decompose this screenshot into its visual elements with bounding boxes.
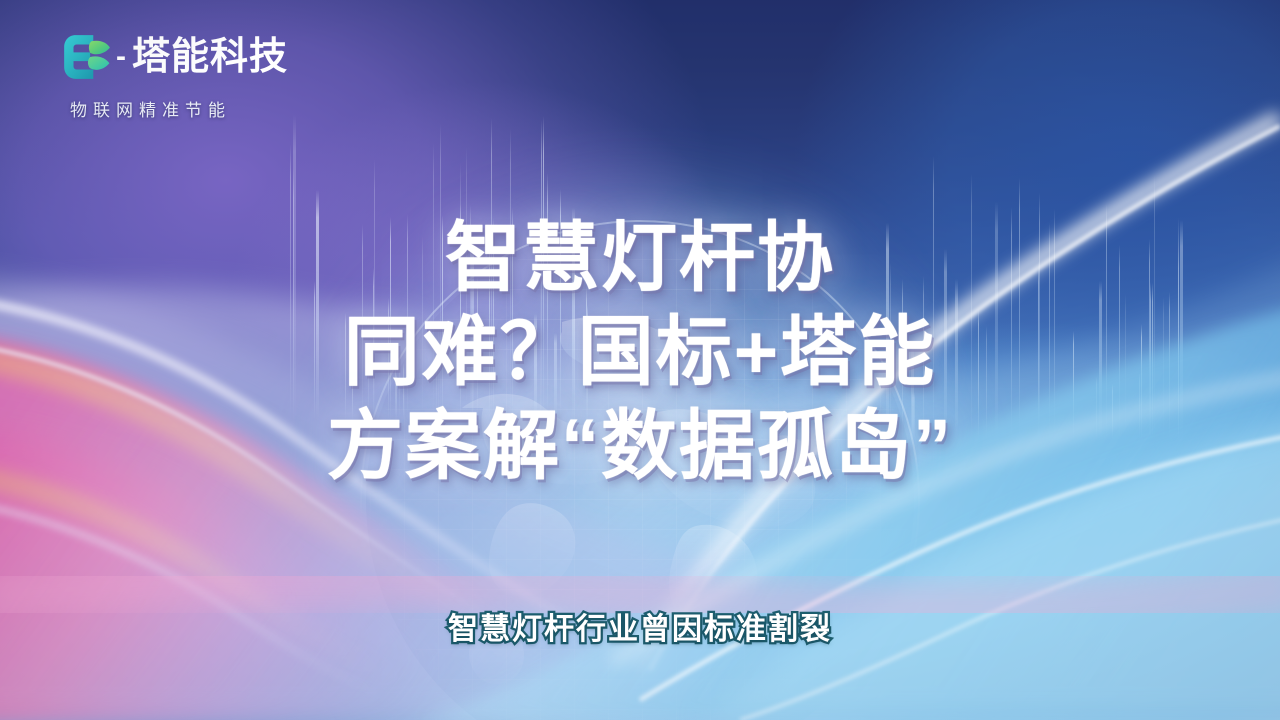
brand-name: 塔能科技 <box>132 38 288 76</box>
globe-continents-icon <box>366 226 914 720</box>
background-blue-glow <box>660 0 1280 500</box>
globe-graphic <box>366 226 914 720</box>
headline-line-3: 方案解“数据孤岛” <box>0 400 1280 494</box>
brand-logo-row: - 塔能科技 <box>60 28 320 86</box>
brand-logo-block[interactable]: - 塔能科技 物联网精准节能 <box>60 28 320 121</box>
headline-line-2: 同难？国标+塔能 <box>0 306 1280 400</box>
tower-energy-leaf-logo-icon <box>60 31 112 83</box>
light-streaks-right <box>880 150 1180 440</box>
headline-line-1: 智慧灯杆协 <box>0 212 1280 306</box>
globe-rim-highlight <box>360 220 920 720</box>
subtitle-text: 智慧灯杆行业曾因标准割裂 <box>448 613 832 646</box>
light-streaks-left <box>290 120 590 420</box>
headline-block: 智慧灯杆协 同难？国标+塔能 方案解“数据孤岛” <box>0 212 1280 494</box>
background-purple-glow-inner <box>180 60 800 540</box>
background-lilac-glow <box>0 380 560 720</box>
logo-dash: - <box>116 42 126 72</box>
slide-canvas: - 塔能科技 物联网精准节能 智慧灯杆协 同难？国标+塔能 方案解“数据孤岛” … <box>0 0 1280 720</box>
brand-tagline: 物联网精准节能 <box>70 96 320 121</box>
subtitle-block: 智慧灯杆行业曾因标准割裂 <box>0 604 1280 648</box>
background-sky-glow <box>400 260 1280 720</box>
